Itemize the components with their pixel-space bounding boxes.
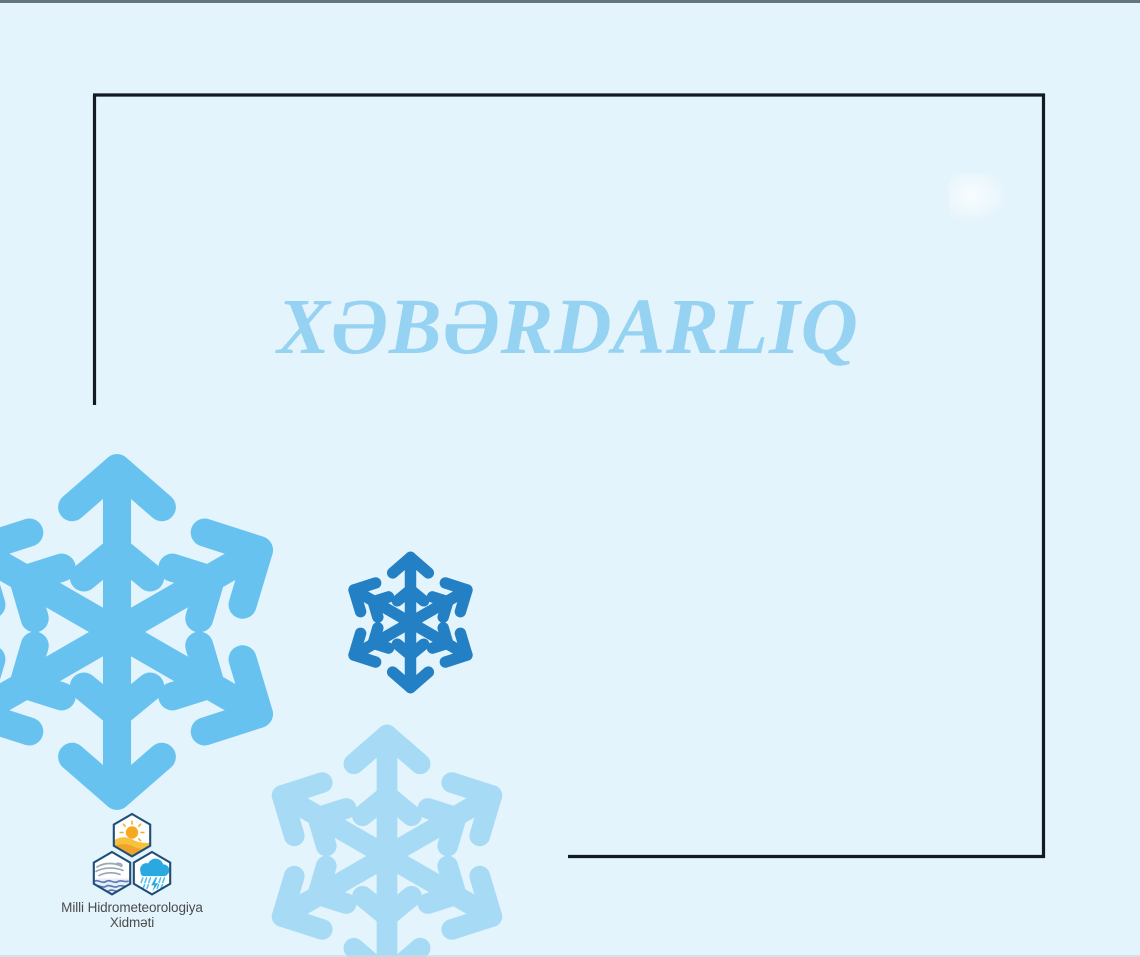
snowflake-medium: [333, 545, 488, 700]
logo-mark: [84, 812, 180, 898]
wind-water-hexagon: [92, 850, 132, 897]
sun-hexagon: [112, 812, 152, 858]
organization-logo: Milli Hidrometeorologiya Xidməti: [37, 812, 227, 930]
poster-canvas: XƏBƏRDARLIQ: [0, 0, 1140, 957]
logo-caption: Milli Hidrometeorologiya Xidməti: [37, 900, 227, 930]
logo-caption-line1: Milli Hidrometeorologiya: [61, 900, 203, 915]
top-edge-strip: [0, 0, 1140, 3]
logo-caption-line2: Xidməti: [37, 915, 227, 930]
snowflake-lower: [243, 712, 531, 957]
faint-watermark: [948, 172, 1008, 224]
rain-cloud-hexagon: [132, 850, 172, 896]
page-title: XƏBƏRDARLIQ: [0, 283, 1140, 373]
